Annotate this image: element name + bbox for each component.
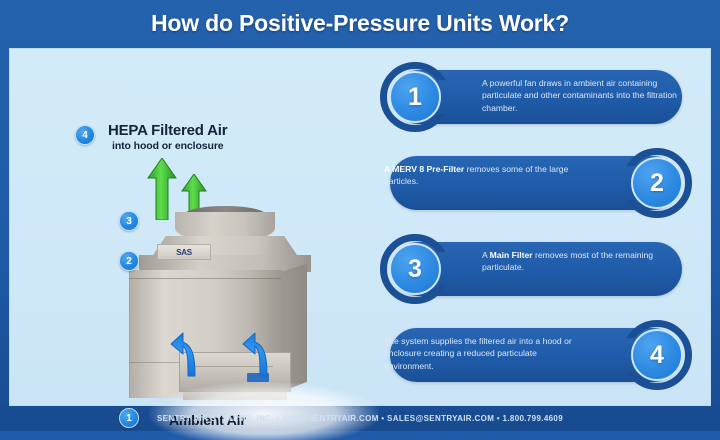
page-title: How do Positive-Pressure Units Work?	[0, 10, 720, 37]
step-3-bold: Main Filter	[490, 250, 533, 260]
unit-seam-upper	[129, 278, 281, 279]
step-2-badge: 2	[622, 148, 692, 218]
unit-badge-main-filter: 3	[119, 211, 139, 231]
step-2-bold: A MERV 8 Pre-Filter	[384, 164, 464, 174]
hepa-title: HEPA Filtered Air	[108, 122, 227, 139]
infographic-poster: How do Positive-Pressure Units Work? 4 H…	[0, 0, 720, 431]
step-4-number: 4	[631, 329, 683, 381]
ambient-intake-arrow-right-icon	[241, 330, 275, 383]
step-3-number: 3	[389, 243, 441, 295]
unit-illustration: 4 HEPA Filtered Air into hood or enclosu…	[9, 48, 364, 406]
hepa-subtitle: into hood or enclosure	[112, 140, 224, 152]
step-3-badge: 3	[380, 234, 450, 304]
step-2-text: A MERV 8 Pre-Filter removes some of the …	[384, 163, 580, 188]
step-3-text: A Main Filter removes most of the remain…	[482, 249, 678, 274]
unit-badge-3-number: 3	[119, 211, 139, 231]
unit-logo-plate: SAS	[157, 244, 211, 260]
step-1-text: A powerful fan draws in ambient air cont…	[482, 77, 678, 114]
footer-contact: SENTRY AIR SYSTEMS, INC. • WWW.SENTRYAIR…	[0, 406, 720, 431]
step-1-badge: 1	[380, 62, 450, 132]
step-1-body: A powerful fan draws in ambient air cont…	[482, 78, 677, 113]
unit-badge-pre-filter: 2	[119, 251, 139, 271]
steps-list: 1 A powerful fan draws in ambient air co…	[364, 48, 711, 406]
ambient-intake-arrow-left-icon	[169, 330, 203, 383]
step-4-badge: 4	[622, 320, 692, 390]
unit-badge-2-number: 2	[119, 251, 139, 271]
hepa-badge-number: 4	[75, 125, 95, 145]
step-card-2[interactable]: 2 A MERV 8 Pre-Filter removes some of th…	[370, 148, 702, 218]
step-4-body: The system supplies the filtered air int…	[384, 336, 572, 371]
step-1-number: 1	[389, 71, 441, 123]
step-card-4[interactable]: 4 The system supplies the filtered air i…	[370, 320, 702, 390]
hepa-step-badge: 4	[75, 125, 95, 145]
step-card-1[interactable]: 1 A powerful fan draws in ambient air co…	[370, 62, 702, 132]
step-2-number: 2	[631, 157, 683, 209]
step-3-prefix: A	[482, 250, 490, 260]
step-4-text: The system supplies the filtered air int…	[384, 335, 580, 372]
step-card-3[interactable]: 3 A Main Filter removes most of the rema…	[370, 234, 702, 304]
